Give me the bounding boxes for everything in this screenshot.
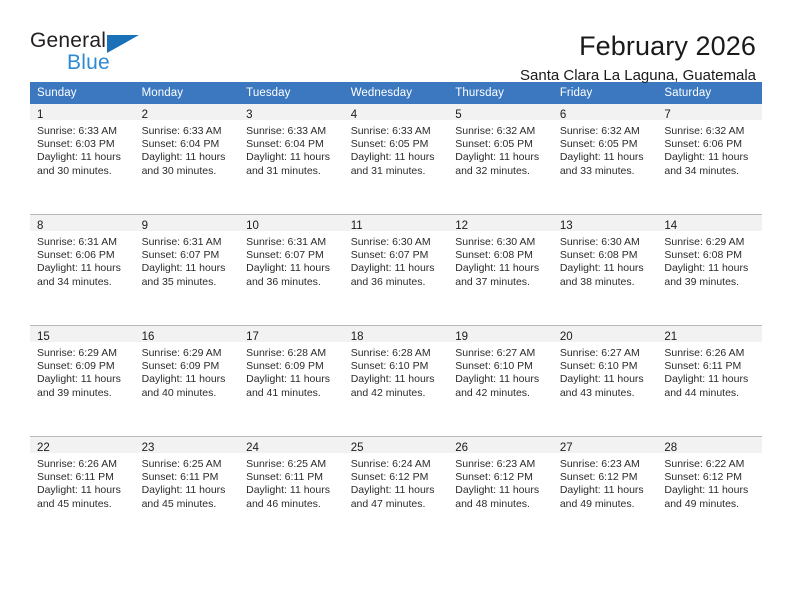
day-number: 20 bbox=[560, 331, 573, 343]
sunrise-text: Sunrise: 6:26 AM bbox=[37, 458, 129, 471]
weekday-header-sunday: Sunday bbox=[30, 82, 135, 104]
calendar-day-cell[interactable]: 5Sunrise: 6:32 AMSunset: 6:05 PMDaylight… bbox=[448, 104, 553, 215]
weekday-header-tuesday: Tuesday bbox=[239, 82, 344, 104]
daylight-text-line2: and 41 minutes. bbox=[246, 387, 338, 400]
day-number: 19 bbox=[455, 331, 468, 343]
calendar-week-row: 8Sunrise: 6:31 AMSunset: 6:06 PMDaylight… bbox=[30, 215, 762, 326]
day-number: 17 bbox=[246, 331, 259, 343]
title-block: February 2026 Santa Clara La Laguna, Gua… bbox=[520, 30, 756, 86]
sunrise-text: Sunrise: 6:24 AM bbox=[351, 458, 443, 471]
calendar-day-cell[interactable]: 25Sunrise: 6:24 AMSunset: 6:12 PMDayligh… bbox=[344, 437, 449, 548]
sunset-text: Sunset: 6:04 PM bbox=[246, 138, 338, 151]
day-number: 7 bbox=[664, 109, 670, 121]
calendar-page: General Blue February 2026 Santa Clara L… bbox=[0, 0, 792, 612]
daylight-text-line1: Daylight: 11 hours bbox=[351, 262, 443, 275]
calendar-day-cell[interactable]: 3Sunrise: 6:33 AMSunset: 6:04 PMDaylight… bbox=[239, 104, 344, 215]
sunrise-text: Sunrise: 6:28 AM bbox=[351, 347, 443, 360]
sunset-text: Sunset: 6:10 PM bbox=[455, 360, 547, 373]
sunset-text: Sunset: 6:08 PM bbox=[560, 249, 652, 262]
day-number: 5 bbox=[455, 109, 461, 121]
daylight-text-line2: and 39 minutes. bbox=[37, 387, 129, 400]
calendar-day-cell[interactable]: 22Sunrise: 6:26 AMSunset: 6:11 PMDayligh… bbox=[30, 437, 135, 548]
daylight-text-line2: and 46 minutes. bbox=[246, 498, 338, 511]
calendar-day-cell[interactable]: 19Sunrise: 6:27 AMSunset: 6:10 PMDayligh… bbox=[448, 326, 553, 437]
daylight-text-line1: Daylight: 11 hours bbox=[664, 151, 756, 164]
daylight-text-line2: and 42 minutes. bbox=[351, 387, 443, 400]
sunset-text: Sunset: 6:12 PM bbox=[351, 471, 443, 484]
sunset-text: Sunset: 6:11 PM bbox=[664, 360, 756, 373]
sunrise-text: Sunrise: 6:33 AM bbox=[142, 125, 234, 138]
daylight-text-line2: and 47 minutes. bbox=[351, 498, 443, 511]
daylight-text-line1: Daylight: 11 hours bbox=[37, 151, 129, 164]
daylight-text-line2: and 40 minutes. bbox=[142, 387, 234, 400]
sunrise-text: Sunrise: 6:33 AM bbox=[351, 125, 443, 138]
sunset-text: Sunset: 6:09 PM bbox=[246, 360, 338, 373]
day-number: 3 bbox=[246, 109, 252, 121]
sunset-text: Sunset: 6:11 PM bbox=[246, 471, 338, 484]
sunrise-text: Sunrise: 6:27 AM bbox=[455, 347, 547, 360]
daylight-text-line2: and 35 minutes. bbox=[142, 276, 234, 289]
calendar-day-cell[interactable]: 15Sunrise: 6:29 AMSunset: 6:09 PMDayligh… bbox=[30, 326, 135, 437]
sunrise-text: Sunrise: 6:22 AM bbox=[664, 458, 756, 471]
sunrise-text: Sunrise: 6:25 AM bbox=[142, 458, 234, 471]
daylight-text-line2: and 43 minutes. bbox=[560, 387, 652, 400]
calendar-day-cell[interactable]: 23Sunrise: 6:25 AMSunset: 6:11 PMDayligh… bbox=[135, 437, 240, 548]
calendar-day-cell[interactable]: 28Sunrise: 6:22 AMSunset: 6:12 PMDayligh… bbox=[657, 437, 762, 548]
calendar-day-cell[interactable]: 27Sunrise: 6:23 AMSunset: 6:12 PMDayligh… bbox=[553, 437, 658, 548]
day-number: 4 bbox=[351, 109, 357, 121]
weekday-header-wednesday: Wednesday bbox=[344, 82, 449, 104]
sunrise-text: Sunrise: 6:23 AM bbox=[455, 458, 547, 471]
daylight-text-line1: Daylight: 11 hours bbox=[246, 373, 338, 386]
calendar-day-cell[interactable]: 14Sunrise: 6:29 AMSunset: 6:08 PMDayligh… bbox=[657, 215, 762, 326]
day-number: 26 bbox=[455, 442, 468, 454]
daylight-text-line2: and 30 minutes. bbox=[37, 165, 129, 178]
calendar-day-cell[interactable]: 11Sunrise: 6:30 AMSunset: 6:07 PMDayligh… bbox=[344, 215, 449, 326]
sunrise-text: Sunrise: 6:31 AM bbox=[246, 236, 338, 249]
daylight-text-line1: Daylight: 11 hours bbox=[351, 373, 443, 386]
day-number: 1 bbox=[37, 109, 43, 121]
daylight-text-line1: Daylight: 11 hours bbox=[142, 373, 234, 386]
daylight-text-line2: and 38 minutes. bbox=[560, 276, 652, 289]
calendar-day-cell[interactable]: 13Sunrise: 6:30 AMSunset: 6:08 PMDayligh… bbox=[553, 215, 658, 326]
sunset-text: Sunset: 6:05 PM bbox=[560, 138, 652, 151]
sunset-text: Sunset: 6:04 PM bbox=[142, 138, 234, 151]
sunrise-text: Sunrise: 6:31 AM bbox=[142, 236, 234, 249]
logo-text-general: General bbox=[30, 30, 106, 51]
calendar-day-cell[interactable]: 16Sunrise: 6:29 AMSunset: 6:09 PMDayligh… bbox=[135, 326, 240, 437]
daylight-text-line1: Daylight: 11 hours bbox=[37, 484, 129, 497]
sunrise-text: Sunrise: 6:25 AM bbox=[246, 458, 338, 471]
daylight-text-line2: and 36 minutes. bbox=[246, 276, 338, 289]
daylight-text-line2: and 33 minutes. bbox=[560, 165, 652, 178]
calendar-day-cell[interactable]: 4Sunrise: 6:33 AMSunset: 6:05 PMDaylight… bbox=[344, 104, 449, 215]
sunset-text: Sunset: 6:11 PM bbox=[37, 471, 129, 484]
sunrise-text: Sunrise: 6:30 AM bbox=[351, 236, 443, 249]
general-blue-logo: General Blue bbox=[30, 30, 150, 78]
daylight-text-line1: Daylight: 11 hours bbox=[455, 373, 547, 386]
sunrise-text: Sunrise: 6:27 AM bbox=[560, 347, 652, 360]
calendar-week-row: 15Sunrise: 6:29 AMSunset: 6:09 PMDayligh… bbox=[30, 326, 762, 437]
daylight-text-line1: Daylight: 11 hours bbox=[664, 373, 756, 386]
sunset-text: Sunset: 6:12 PM bbox=[664, 471, 756, 484]
daylight-text-line1: Daylight: 11 hours bbox=[37, 373, 129, 386]
daylight-text-line1: Daylight: 11 hours bbox=[455, 484, 547, 497]
sunrise-text: Sunrise: 6:23 AM bbox=[560, 458, 652, 471]
sunset-text: Sunset: 6:06 PM bbox=[664, 138, 756, 151]
calendar-day-cell[interactable]: 9Sunrise: 6:31 AMSunset: 6:07 PMDaylight… bbox=[135, 215, 240, 326]
daylight-text-line1: Daylight: 11 hours bbox=[246, 151, 338, 164]
sunset-text: Sunset: 6:03 PM bbox=[37, 138, 129, 151]
day-number: 16 bbox=[142, 331, 155, 343]
calendar-day-cell[interactable]: 6Sunrise: 6:32 AMSunset: 6:05 PMDaylight… bbox=[553, 104, 658, 215]
daylight-text-line2: and 44 minutes. bbox=[664, 387, 756, 400]
sunrise-text: Sunrise: 6:29 AM bbox=[664, 236, 756, 249]
daylight-text-line1: Daylight: 11 hours bbox=[560, 484, 652, 497]
calendar-week-row: 1Sunrise: 6:33 AMSunset: 6:03 PMDaylight… bbox=[30, 104, 762, 215]
daylight-text-line1: Daylight: 11 hours bbox=[664, 484, 756, 497]
page-title: February 2026 bbox=[520, 30, 756, 62]
logo-text-blue: Blue bbox=[67, 52, 110, 73]
calendar-day-cell[interactable]: 17Sunrise: 6:28 AMSunset: 6:09 PMDayligh… bbox=[239, 326, 344, 437]
sunset-text: Sunset: 6:06 PM bbox=[37, 249, 129, 262]
daylight-text-line1: Daylight: 11 hours bbox=[455, 262, 547, 275]
daylight-text-line1: Daylight: 11 hours bbox=[246, 262, 338, 275]
daylight-text-line2: and 49 minutes. bbox=[664, 498, 756, 511]
daylight-text-line1: Daylight: 11 hours bbox=[351, 484, 443, 497]
sunrise-text: Sunrise: 6:33 AM bbox=[246, 125, 338, 138]
daylight-text-line1: Daylight: 11 hours bbox=[142, 484, 234, 497]
sunset-text: Sunset: 6:05 PM bbox=[455, 138, 547, 151]
day-number: 10 bbox=[246, 220, 259, 232]
day-number: 24 bbox=[246, 442, 259, 454]
daylight-text-line1: Daylight: 11 hours bbox=[142, 151, 234, 164]
sunset-text: Sunset: 6:10 PM bbox=[560, 360, 652, 373]
sunrise-text: Sunrise: 6:30 AM bbox=[560, 236, 652, 249]
day-number: 25 bbox=[351, 442, 364, 454]
sunset-text: Sunset: 6:08 PM bbox=[455, 249, 547, 262]
sunset-text: Sunset: 6:07 PM bbox=[142, 249, 234, 262]
day-number: 8 bbox=[37, 220, 43, 232]
daylight-text-line2: and 45 minutes. bbox=[142, 498, 234, 511]
weekday-header-monday: Monday bbox=[135, 82, 240, 104]
daylight-text-line2: and 49 minutes. bbox=[560, 498, 652, 511]
sunset-text: Sunset: 6:12 PM bbox=[560, 471, 652, 484]
calendar-day-cell[interactable]: 10Sunrise: 6:31 AMSunset: 6:07 PMDayligh… bbox=[239, 215, 344, 326]
day-number: 14 bbox=[664, 220, 677, 232]
day-number: 12 bbox=[455, 220, 468, 232]
sunset-text: Sunset: 6:11 PM bbox=[142, 471, 234, 484]
daylight-text-line1: Daylight: 11 hours bbox=[142, 262, 234, 275]
calendar-day-cell[interactable]: 21Sunrise: 6:26 AMSunset: 6:11 PMDayligh… bbox=[657, 326, 762, 437]
day-number: 22 bbox=[37, 442, 50, 454]
day-number: 28 bbox=[664, 442, 677, 454]
daylight-text-line1: Daylight: 11 hours bbox=[455, 151, 547, 164]
sunrise-text: Sunrise: 6:33 AM bbox=[37, 125, 129, 138]
daylight-text-line1: Daylight: 11 hours bbox=[246, 484, 338, 497]
daylight-text-line2: and 32 minutes. bbox=[455, 165, 547, 178]
calendar-week-row: 22Sunrise: 6:26 AMSunset: 6:11 PMDayligh… bbox=[30, 437, 762, 548]
daylight-text-line1: Daylight: 11 hours bbox=[560, 262, 652, 275]
calendar-day-cell[interactable]: 2Sunrise: 6:33 AMSunset: 6:04 PMDaylight… bbox=[135, 104, 240, 215]
calendar-day-cell[interactable]: 1Sunrise: 6:33 AMSunset: 6:03 PMDaylight… bbox=[30, 104, 135, 215]
daylight-text-line2: and 34 minutes. bbox=[664, 165, 756, 178]
sunrise-text: Sunrise: 6:32 AM bbox=[455, 125, 547, 138]
daylight-text-line2: and 48 minutes. bbox=[455, 498, 547, 511]
page-header: General Blue February 2026 Santa Clara L… bbox=[0, 0, 792, 72]
sunset-text: Sunset: 6:08 PM bbox=[664, 249, 756, 262]
daylight-text-line2: and 36 minutes. bbox=[351, 276, 443, 289]
day-number: 11 bbox=[351, 220, 363, 232]
calendar-day-cell[interactable]: 24Sunrise: 6:25 AMSunset: 6:11 PMDayligh… bbox=[239, 437, 344, 548]
daylight-text-line2: and 31 minutes. bbox=[351, 165, 443, 178]
day-number: 18 bbox=[351, 331, 364, 343]
sunrise-text: Sunrise: 6:28 AM bbox=[246, 347, 338, 360]
calendar-body: 1Sunrise: 6:33 AMSunset: 6:03 PMDaylight… bbox=[30, 104, 762, 547]
calendar-table: Sunday Monday Tuesday Wednesday Thursday… bbox=[30, 82, 762, 547]
daylight-text-line1: Daylight: 11 hours bbox=[37, 262, 129, 275]
daylight-text-line2: and 30 minutes. bbox=[142, 165, 234, 178]
daylight-text-line2: and 37 minutes. bbox=[455, 276, 547, 289]
day-number: 9 bbox=[142, 220, 148, 232]
daylight-text-line1: Daylight: 11 hours bbox=[664, 262, 756, 275]
page-subtitle: Santa Clara La Laguna, Guatemala bbox=[520, 66, 756, 86]
sunrise-text: Sunrise: 6:29 AM bbox=[142, 347, 234, 360]
calendar-day-cell[interactable]: 12Sunrise: 6:30 AMSunset: 6:08 PMDayligh… bbox=[448, 215, 553, 326]
daylight-text-line2: and 34 minutes. bbox=[37, 276, 129, 289]
daylight-text-line1: Daylight: 11 hours bbox=[560, 151, 652, 164]
day-number: 27 bbox=[560, 442, 573, 454]
calendar-day-cell[interactable]: 20Sunrise: 6:27 AMSunset: 6:10 PMDayligh… bbox=[553, 326, 658, 437]
day-number: 15 bbox=[37, 331, 50, 343]
sunset-text: Sunset: 6:12 PM bbox=[455, 471, 547, 484]
calendar-day-cell[interactable]: 26Sunrise: 6:23 AMSunset: 6:12 PMDayligh… bbox=[448, 437, 553, 548]
daylight-text-line2: and 42 minutes. bbox=[455, 387, 547, 400]
calendar-day-cell[interactable]: 18Sunrise: 6:28 AMSunset: 6:10 PMDayligh… bbox=[344, 326, 449, 437]
daylight-text-line1: Daylight: 11 hours bbox=[560, 373, 652, 386]
daylight-text-line2: and 31 minutes. bbox=[246, 165, 338, 178]
calendar-day-cell[interactable]: 8Sunrise: 6:31 AMSunset: 6:06 PMDaylight… bbox=[30, 215, 135, 326]
sunrise-text: Sunrise: 6:29 AM bbox=[37, 347, 129, 360]
day-number: 6 bbox=[560, 109, 566, 121]
sunrise-text: Sunrise: 6:32 AM bbox=[560, 125, 652, 138]
sunset-text: Sunset: 6:09 PM bbox=[37, 360, 129, 373]
logo-triangle-icon bbox=[107, 35, 139, 53]
daylight-text-line1: Daylight: 11 hours bbox=[351, 151, 443, 164]
sunrise-text: Sunrise: 6:26 AM bbox=[664, 347, 756, 360]
daylight-text-line2: and 39 minutes. bbox=[664, 276, 756, 289]
daylight-text-line2: and 45 minutes. bbox=[37, 498, 129, 511]
day-number: 23 bbox=[142, 442, 155, 454]
sunset-text: Sunset: 6:07 PM bbox=[246, 249, 338, 262]
sunrise-text: Sunrise: 6:32 AM bbox=[664, 125, 756, 138]
sunset-text: Sunset: 6:05 PM bbox=[351, 138, 443, 151]
sunrise-text: Sunrise: 6:30 AM bbox=[455, 236, 547, 249]
sunrise-text: Sunrise: 6:31 AM bbox=[37, 236, 129, 249]
day-number: 13 bbox=[560, 220, 573, 232]
day-number: 21 bbox=[664, 331, 677, 343]
sunset-text: Sunset: 6:10 PM bbox=[351, 360, 443, 373]
calendar-day-cell[interactable]: 7Sunrise: 6:32 AMSunset: 6:06 PMDaylight… bbox=[657, 104, 762, 215]
sunset-text: Sunset: 6:07 PM bbox=[351, 249, 443, 262]
sunset-text: Sunset: 6:09 PM bbox=[142, 360, 234, 373]
day-number: 2 bbox=[142, 109, 148, 121]
